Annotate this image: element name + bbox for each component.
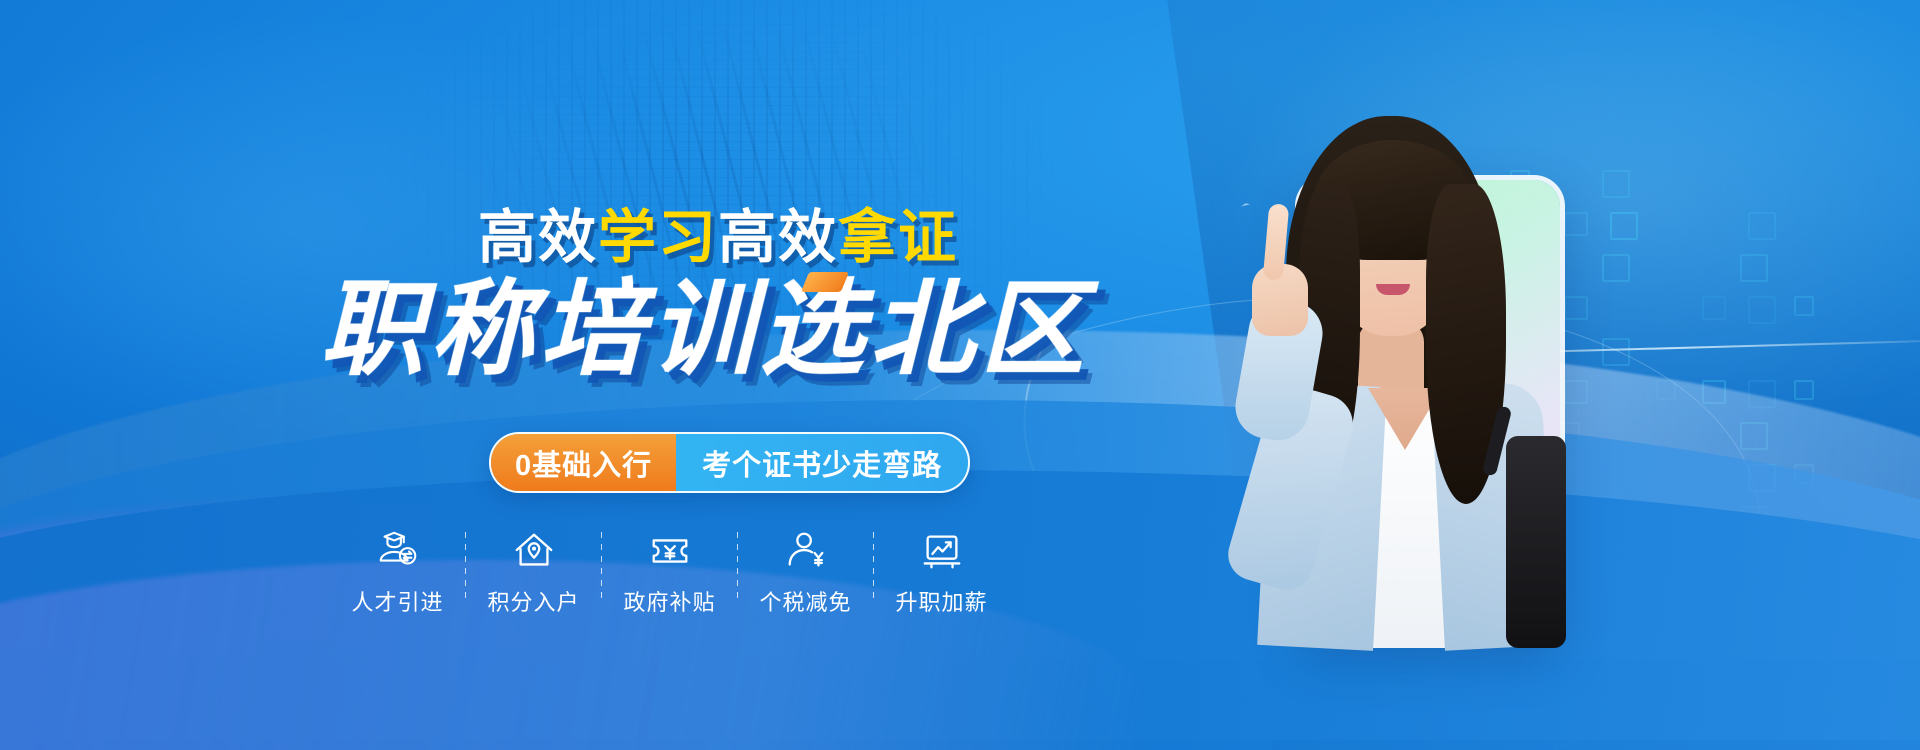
promo-banner: 高效学习高效拿证 职称培训选北区 0基础入行 考个证书少走弯路 人才引进积分入户… [0,0,1920,750]
feature-item-1[interactable]: 人才引进 [330,528,465,617]
headline-part-2: 高效 [718,205,838,270]
house-pin-icon [511,528,557,574]
headline-part-1: 高效 [478,205,598,270]
feature-item-4[interactable]: 个税减免 [738,528,873,617]
feature-label: 人才引进 [351,585,443,617]
feature-label: 个税减免 [759,585,851,617]
badge-right-label: 考个证书少走弯路 [676,434,968,491]
feature-label: 政府补贴 [623,585,715,617]
promo-badge[interactable]: 0基础入行 考个证书少走弯路 [489,432,970,493]
person-yuan-icon [783,528,829,574]
graduate-person-icon [375,528,421,574]
orange-accent-mark [801,272,849,292]
headline-highlight-2: 拿证 [838,205,958,270]
feature-label: 积分入户 [487,585,579,617]
growth-chart-icon [919,528,965,574]
feature-label: 升职加薪 [895,585,987,617]
badge-left-label: 0基础入行 [491,434,676,491]
feature-item-3[interactable]: 政府补贴 [602,528,737,617]
feature-item-2[interactable]: 积分入户 [466,528,601,617]
headline-highlight-1: 学习 [598,205,718,270]
feature-list: 人才引进积分入户政府补贴个税减免升职加薪 [330,528,1009,617]
ticket-yuan-icon [647,528,693,574]
feature-item-5[interactable]: 升职加薪 [874,528,1009,617]
person-photo [1190,88,1610,648]
headline: 高效学习高效拿证 [478,190,958,274]
main-title: 职称培训选北区 [320,278,1090,382]
